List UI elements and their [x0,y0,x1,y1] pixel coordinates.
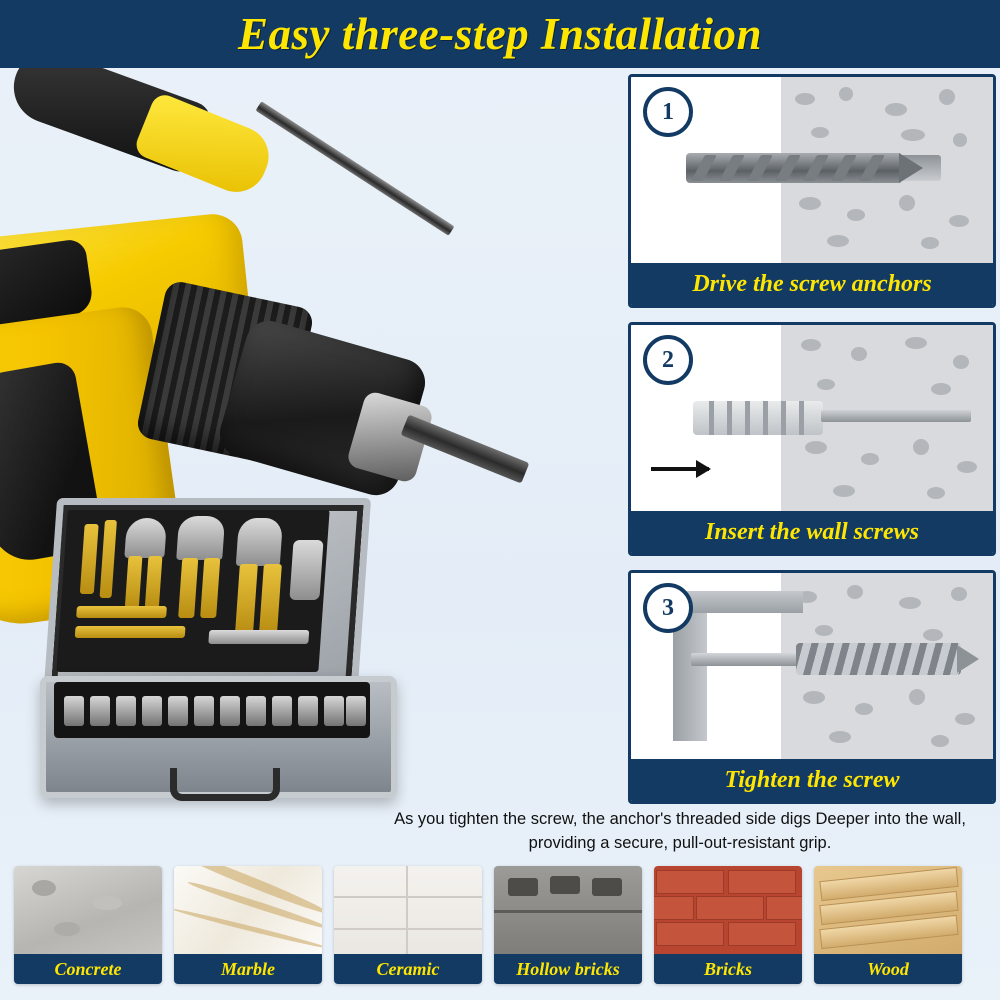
step-card-2: 2 Insert the wall screws [628,322,996,556]
material-concrete-label: Concrete [14,954,162,984]
socket-tray [54,682,370,738]
product-infographic: Easy three-step Installation [0,0,1000,1000]
step-2-label-text: Insert the wall screws [705,519,919,546]
screw-icon [796,643,961,675]
wall-screw-icon [821,410,971,422]
step-3-number: 3 [643,583,693,633]
material-ceramic-label: Ceramic [334,954,482,984]
step-card-3: 3 Tighten the screw [628,570,996,804]
materials-strip: Concrete Marble Ceramic Hollow [14,866,986,984]
material-hollow-bricks-label: Hollow bricks [494,954,642,984]
material-bricks-label: Bricks [654,954,802,984]
tool-case-handle [170,768,280,801]
material-marble-label-text: Marble [221,959,275,980]
header-banner: Easy three-step Installation [0,0,1000,68]
tool-case-lid-tools [56,510,329,672]
step-1-label-text: Drive the screw anchors [692,271,931,298]
wall-anchor-icon [693,401,823,435]
steps-column: 1 Drive the screw anchors [628,74,990,818]
material-marble-label: Marble [174,954,322,984]
screw-shank-icon [691,653,801,666]
step-3-label: Tighten the screw [631,759,993,801]
step-2-number: 2 [643,335,693,385]
material-ceramic: Ceramic [334,866,482,984]
product-photo [0,68,620,848]
page-title: Easy three-step Installation [238,8,762,60]
step-3-label-text: Tighten the screw [724,767,899,794]
material-marble: Marble [174,866,322,984]
screwdriver-shaft [256,101,455,235]
screw-tip-icon [957,645,979,673]
material-concrete-label-text: Concrete [55,959,122,980]
material-wood: Wood [814,866,962,984]
insert-direction-arrow-icon [651,467,709,471]
material-bricks: Bricks [654,866,802,984]
tool-case [40,498,400,798]
material-concrete: Concrete [14,866,162,984]
material-wood-label: Wood [814,954,962,984]
step-card-1: 1 Drive the screw anchors [628,74,996,308]
step-1-number: 1 [643,87,693,137]
material-hollow-bricks: Hollow bricks [494,866,642,984]
material-hollow-bricks-label-text: Hollow bricks [516,959,620,980]
drill-bit-icon [686,153,901,183]
material-ceramic-label-text: Ceramic [377,959,440,980]
step-1-label: Drive the screw anchors [631,263,993,305]
material-wood-label-text: Wood [867,959,909,980]
drill-bit-tip-icon [899,153,923,183]
caption-text: As you tighten the screw, the anchor's t… [360,808,1000,856]
material-bricks-label-text: Bricks [704,959,752,980]
step-2-label: Insert the wall screws [631,511,993,553]
